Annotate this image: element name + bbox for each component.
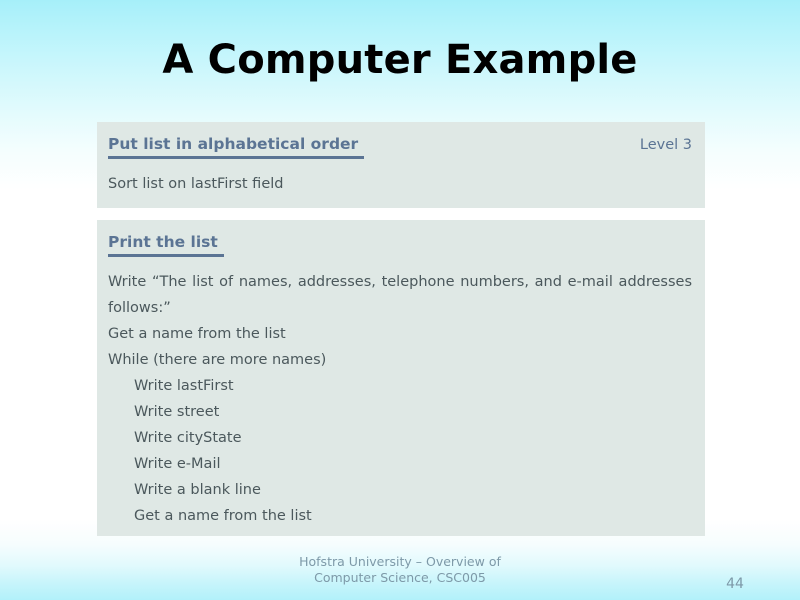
box-body: Write “The list of names, addresses, tel… [108,269,694,529]
box-body: Sort list on lastFirst field [108,171,694,197]
box-header-row: Put list in alphabetical order Level 3 [108,134,694,159]
pseudocode-line: Write “The list of names, addresses, tel… [108,269,692,321]
content-box-print-the-list: Print the list Write “The list of names,… [97,220,705,536]
pseudocode-line: Sort list on lastFirst field [108,171,694,197]
pseudocode-line: Write street [108,399,694,425]
pseudocode-line: Write a blank line [108,477,694,503]
pseudocode-line: While (there are more names) [108,347,694,373]
footer-line-1: Hofstra University – Overview of [0,554,800,570]
box-header-row: Print the list [108,232,694,257]
pseudocode-line: Write e-Mail [108,451,694,477]
pseudocode-line: Get a name from the list [108,503,694,529]
slide-canvas: A Computer Example Put list in alphabeti… [0,0,800,600]
footer-line-2: Computer Science, CSC005 [0,570,800,586]
level-badge: Level 3 [640,135,694,155]
pseudocode-line: Write lastFirst [108,373,694,399]
box-heading: Print the list [108,232,224,257]
box-heading: Put list in alphabetical order [108,134,364,159]
pseudocode-line: Get a name from the list [108,321,694,347]
page-title: A Computer Example [0,36,800,84]
slide-footer: Hofstra University – Overview of Compute… [0,554,800,586]
page-number: 44 [700,575,770,593]
pseudocode-line: Write cityState [108,425,694,451]
content-box-alphabetical-order: Put list in alphabetical order Level 3 S… [97,122,705,208]
